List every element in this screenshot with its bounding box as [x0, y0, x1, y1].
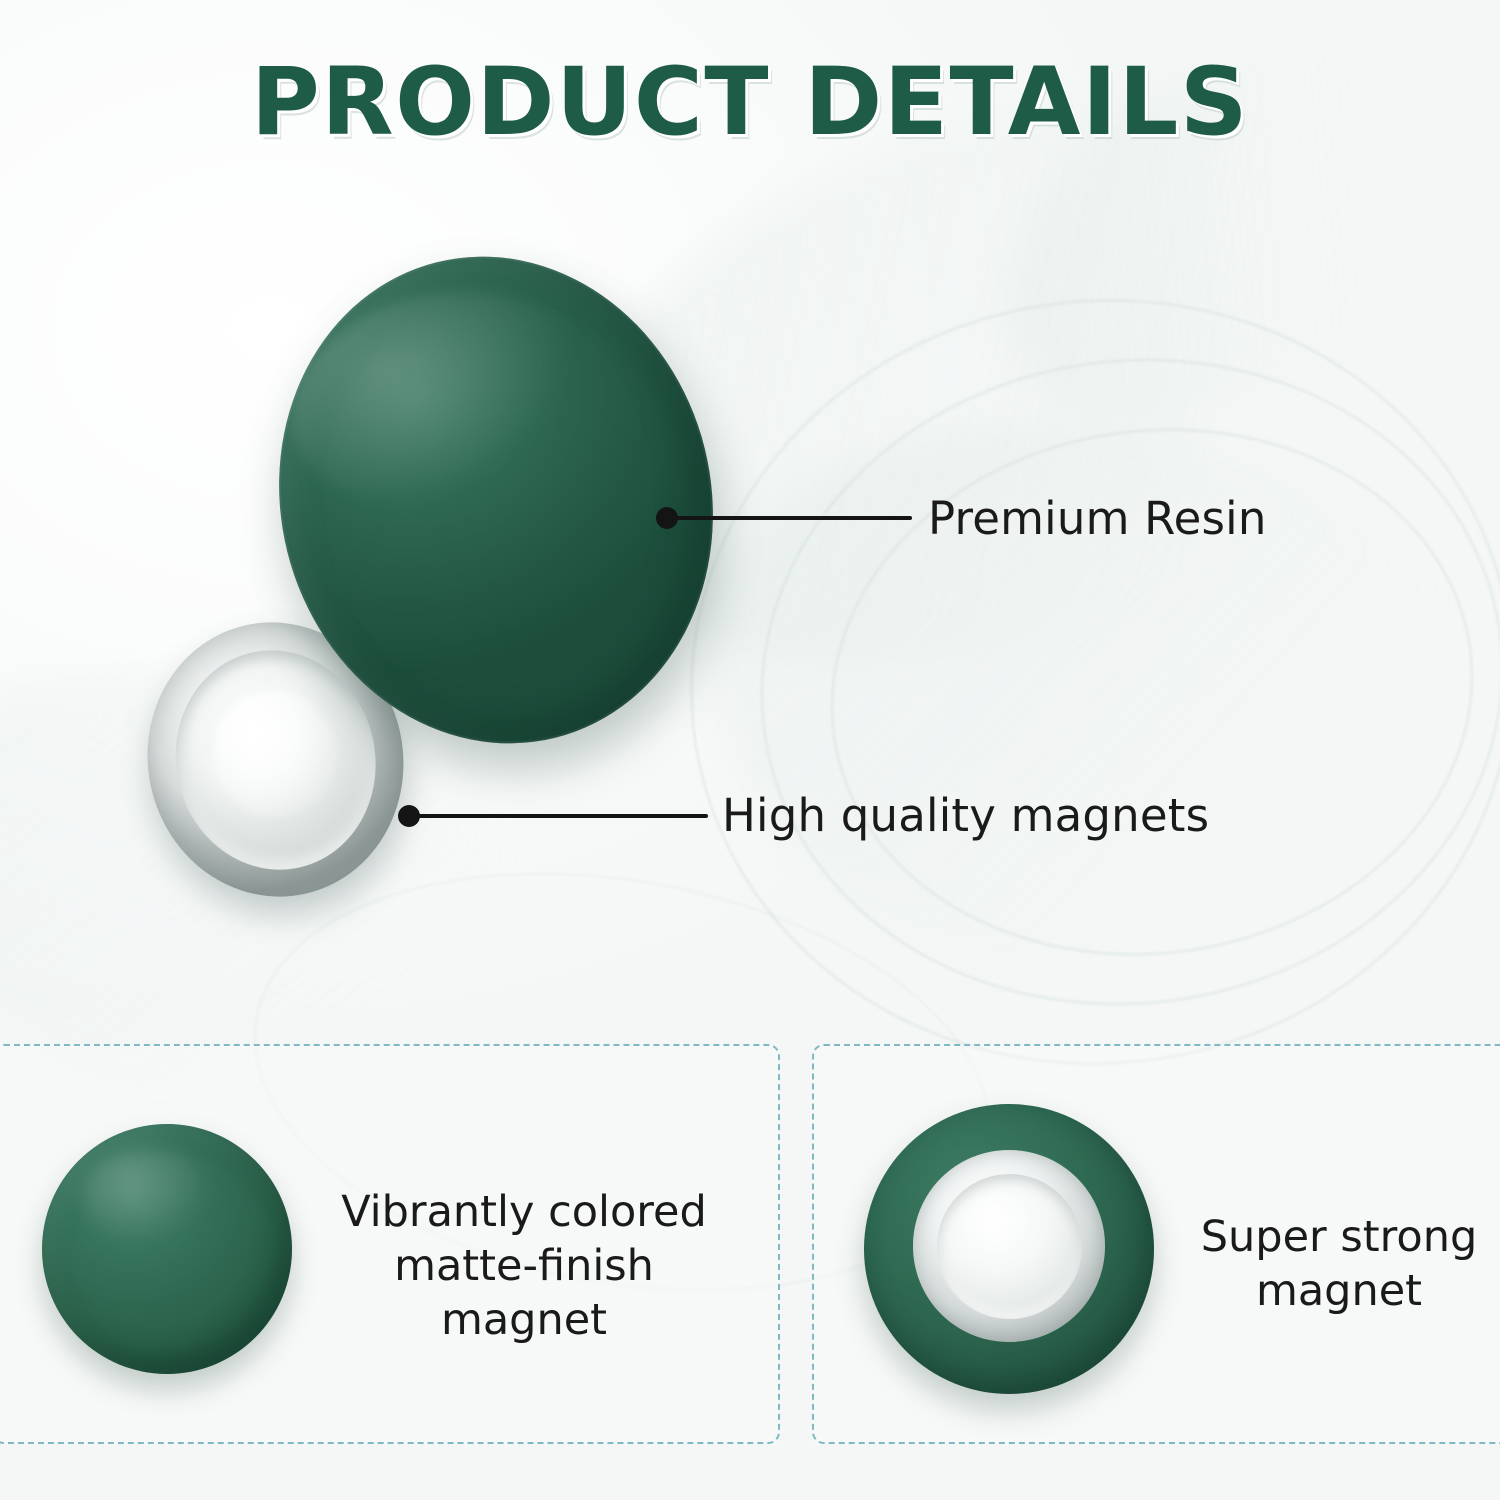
page-title: PRODUCT DETAILS: [0, 48, 1500, 157]
product-details-image: PRODUCT DETAILS Premium Resin High quali…: [0, 0, 1500, 1500]
callout-label-high-quality-magnets: High quality magnets: [722, 789, 1209, 842]
feature-card-super-strong: Super strong magnet: [812, 1044, 1500, 1444]
feature-card-matte-finish: Vibrantly colored matte-finish magnet: [0, 1044, 780, 1444]
callout-label-premium-resin: Premium Resin: [928, 492, 1267, 545]
feature-text-matte-finish: Vibrantly colored matte-finish magnet: [324, 1186, 724, 1347]
feature-text-super-strong: Super strong magnet: [1174, 1211, 1500, 1319]
hero-product-photo: [0, 190, 1500, 1040]
green-ring-magnet-image: [864, 1104, 1154, 1394]
green-matte-ball-image: [42, 1124, 292, 1374]
